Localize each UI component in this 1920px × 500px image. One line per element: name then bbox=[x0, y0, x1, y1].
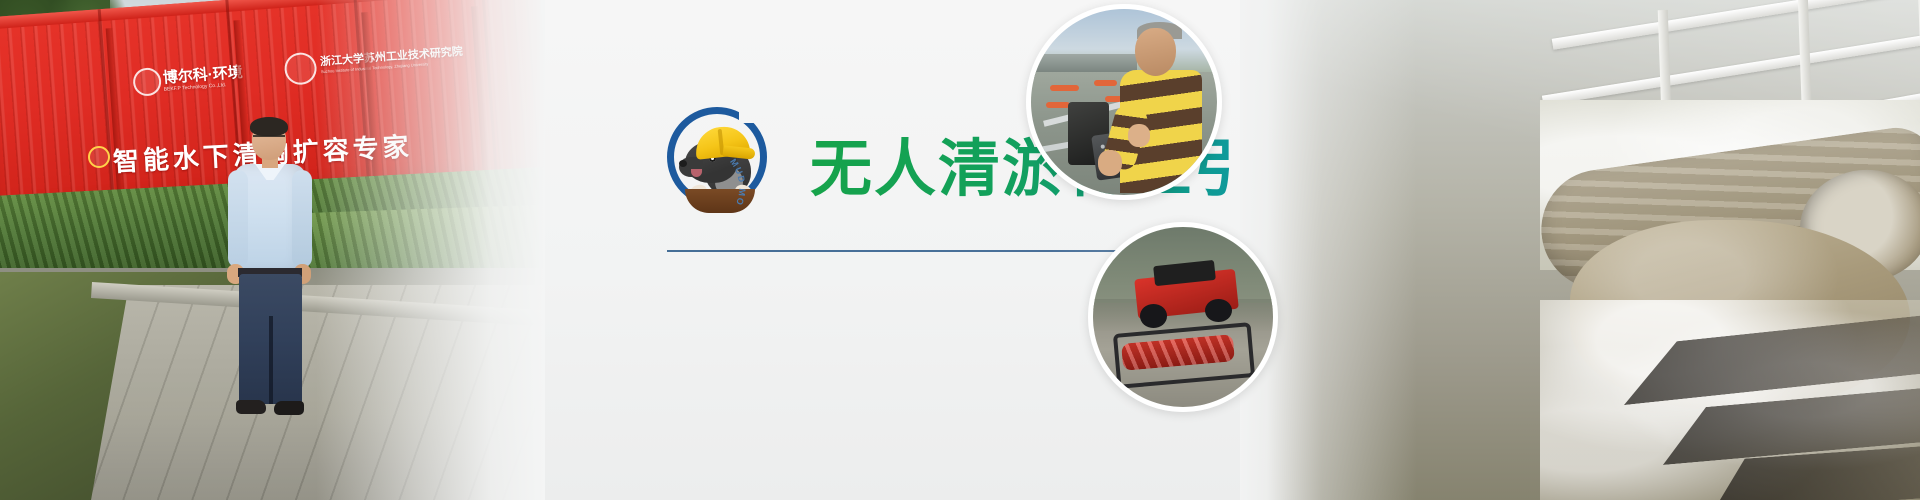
inset-robot-wheel bbox=[1205, 299, 1232, 322]
right-photo-collage bbox=[1240, 0, 1920, 500]
inset-robot-wheel bbox=[1140, 304, 1167, 327]
logo-arc-text: MUD MOLE bbox=[725, 155, 781, 211]
mole-nose bbox=[679, 160, 687, 167]
svg-text:MUD MOLE: MUD MOLE bbox=[721, 147, 747, 208]
inset-float-marker bbox=[1050, 85, 1080, 91]
left-container-photo: 博尔科·环境 BEKF.P Technology Co.,Ltd. 浙江大学苏州… bbox=[0, 0, 545, 500]
inset-operator-hand bbox=[1128, 124, 1150, 146]
inset-dredging-robot-photo bbox=[1088, 222, 1278, 412]
logo-arc-text-path: MUD MOLE bbox=[721, 147, 747, 208]
right-photo-fade-overlay bbox=[1240, 0, 1920, 500]
inset-operator-photo bbox=[1026, 4, 1222, 200]
hero-banner: 博尔科·环境 BEKF.P Technology Co.,Ltd. 浙江大学苏州… bbox=[0, 0, 1920, 500]
left-photo-fade-overlay bbox=[0, 0, 545, 500]
inset-float-marker bbox=[1094, 80, 1116, 86]
inset-operator-head bbox=[1135, 28, 1176, 76]
mud-mole-logo: MUD MOLE bbox=[665, 105, 773, 213]
inset-operator-hand bbox=[1098, 150, 1122, 176]
inset-float-marker bbox=[1046, 102, 1070, 108]
